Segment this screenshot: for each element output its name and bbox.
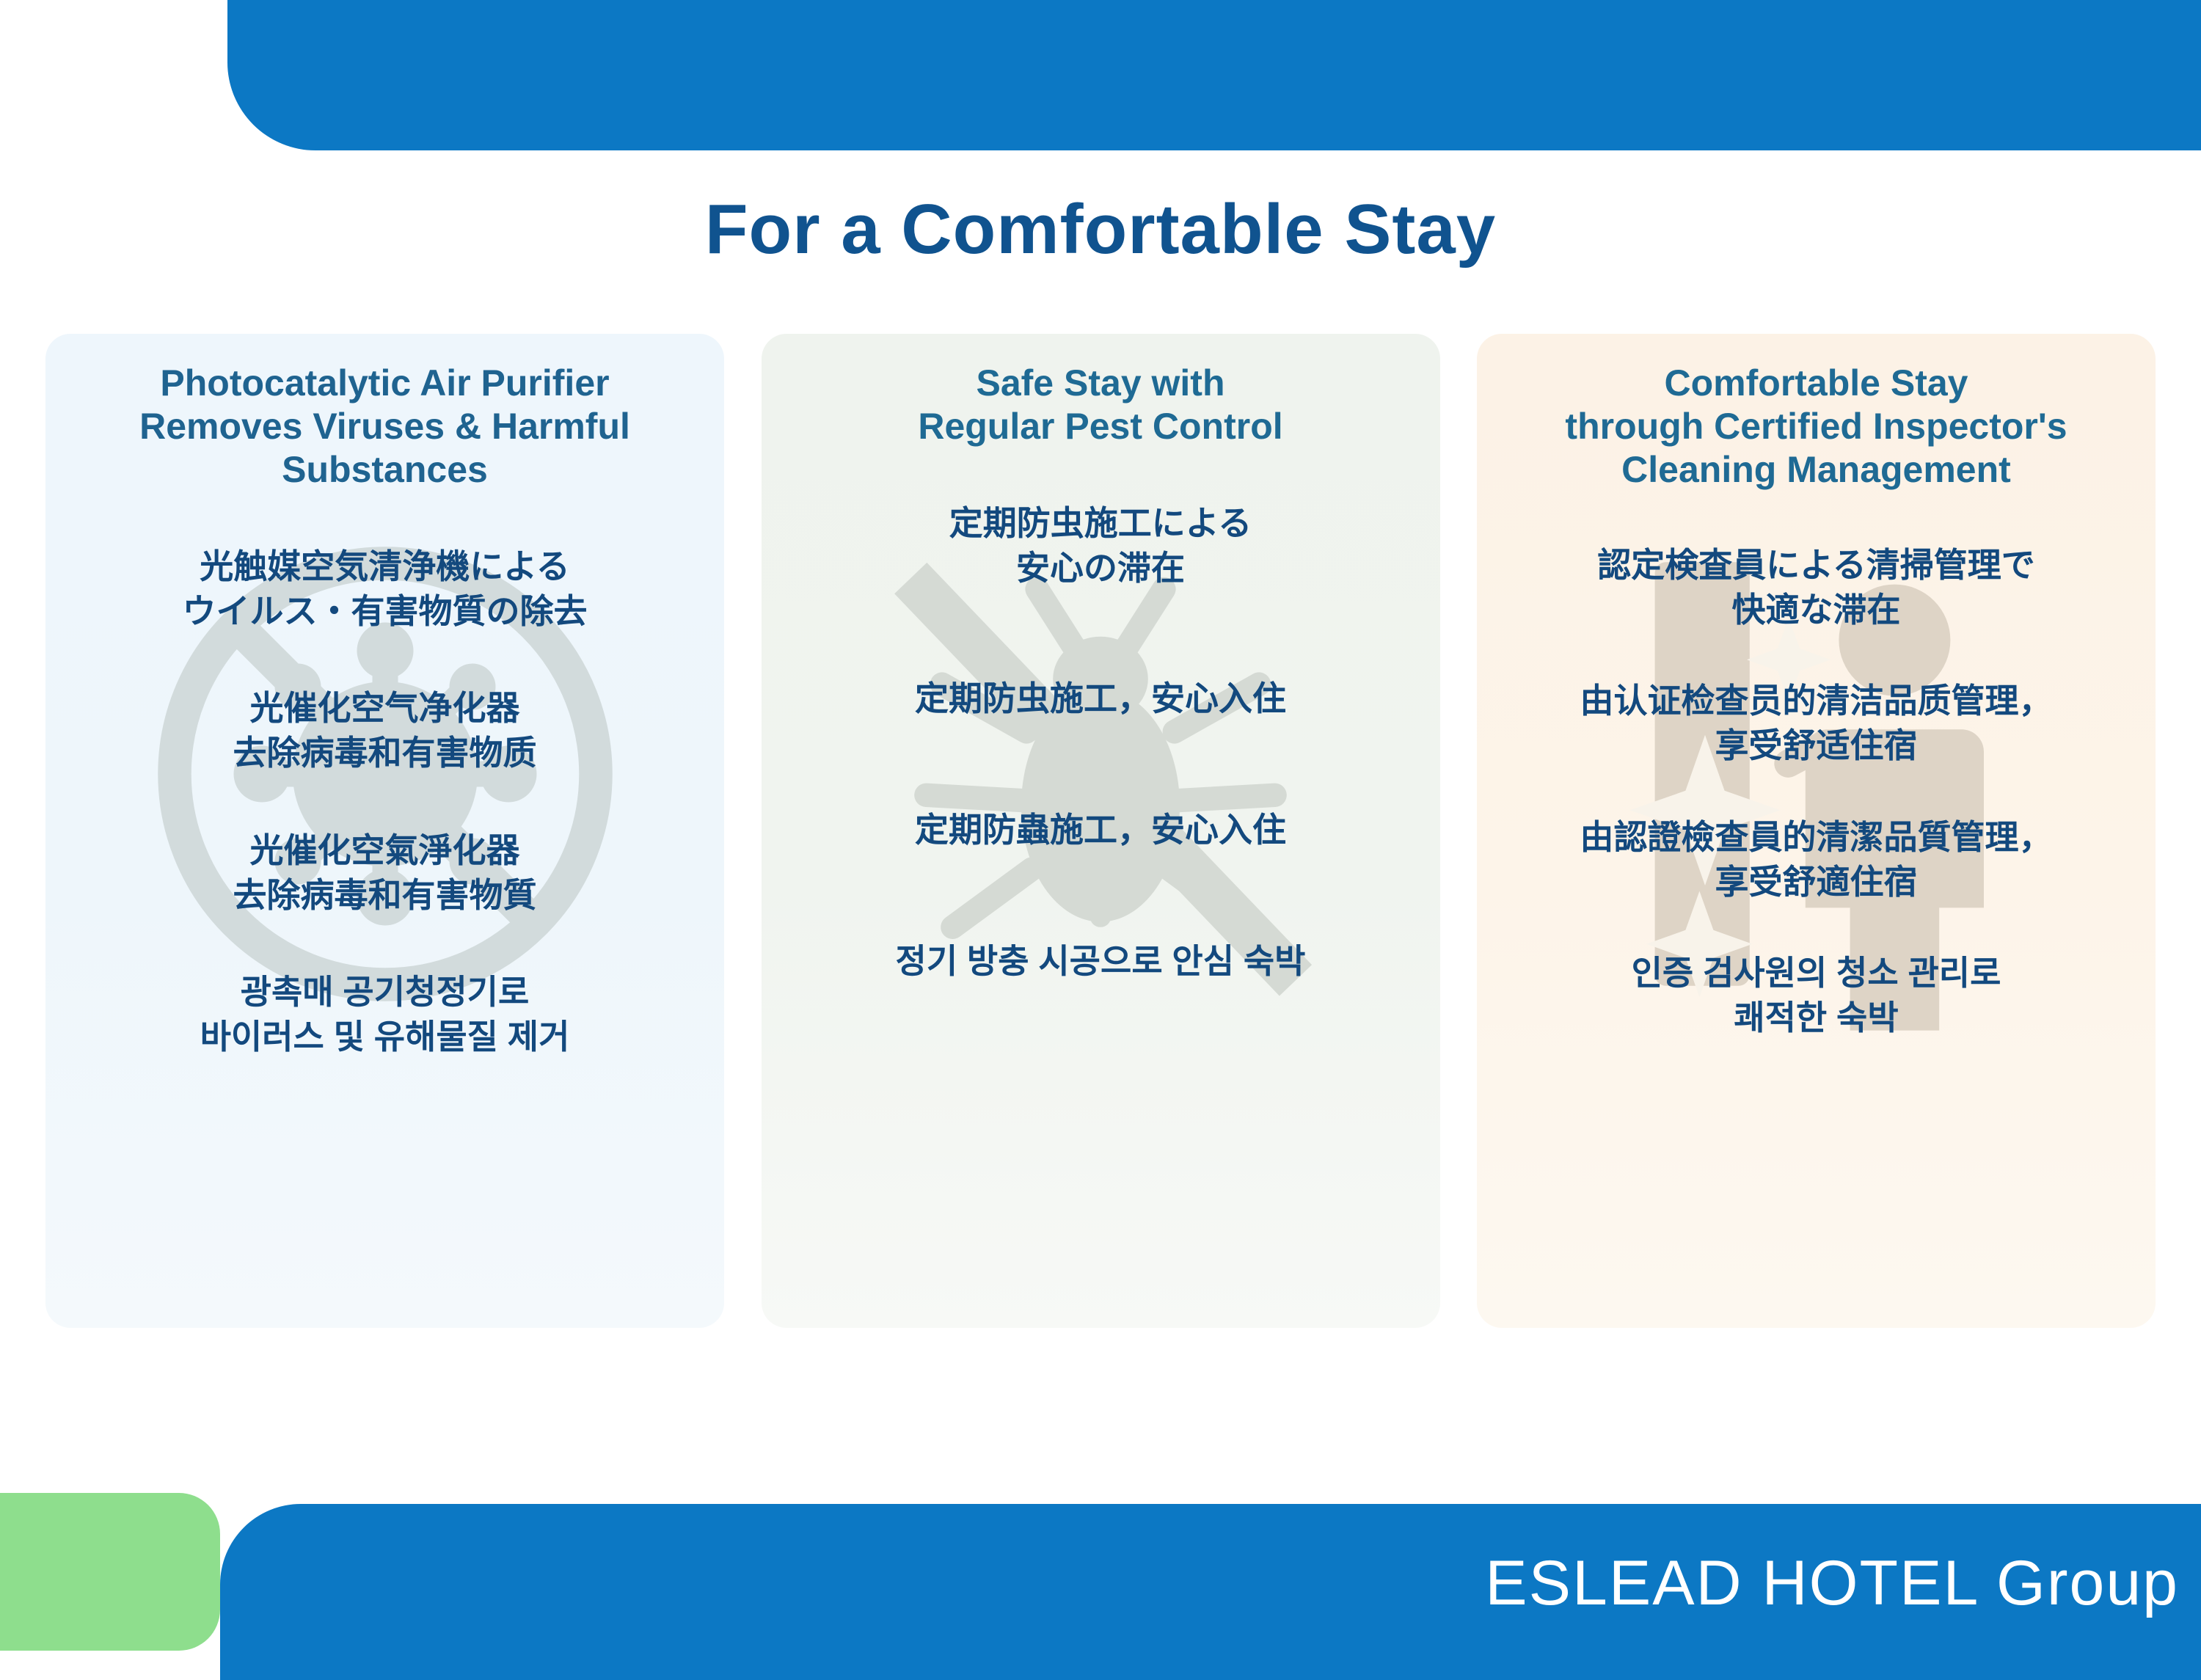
top-banner [227, 0, 2201, 150]
card-body-zh-cn: 光催化空气净化器 去除病毒和有害物质 [65, 686, 705, 775]
card-body-ja: 定期防虫施工による 安心の滞在 [781, 501, 1421, 590]
feature-card-air-purifier[interactable]: Photocatalytic Air Purifier Removes Viru… [45, 334, 724, 1328]
card-body-zh-tw: 定期防蟲施工，安心入住 [781, 808, 1421, 852]
footer-accent-shape [0, 1493, 220, 1651]
card-heading: Photocatalytic Air Purifier Removes Viru… [65, 362, 705, 492]
card-body-zh-cn: 由认证检查员的清洁品质管理， 享受舒适住宿 [1496, 679, 2136, 767]
card-body: 定期防虫施工による 安心の滞在 定期防虫施工，安心入住 定期防蟲施工，安心入住 … [781, 501, 1421, 984]
card-heading: Safe Stay with Regular Pest Control [781, 362, 1421, 448]
brand-name: ESLEAD HOTEL Group [1485, 1547, 2179, 1620]
feature-card-cleaning-management[interactable]: Comfortable Stay through Certified Inspe… [1477, 334, 2156, 1328]
card-body-ja: 認定検査員による清掃管理で 快適な滞在 [1496, 543, 2136, 632]
card-body-ko: 정기 방충 시공으로 안심 숙박 [781, 939, 1421, 984]
page-title: For a Comfortable Stay [0, 189, 2201, 270]
card-heading: Comfortable Stay through Certified Inspe… [1496, 362, 2136, 492]
card-body-ja: 光触媒空気清浄機による ウイルス・有害物質の除去 [65, 544, 705, 633]
card-body-zh-cn: 定期防虫施工，安心入住 [781, 676, 1421, 721]
card-body-ko: 인증 검사원의 청소 관리로 쾌적한 숙박 [1496, 951, 2136, 1040]
feature-cards-row: Photocatalytic Air Purifier Removes Viru… [45, 334, 2156, 1328]
card-body-ko: 광촉매 공기청정기로 바이러스 및 유해물질 제거 [65, 970, 705, 1059]
card-body-zh-tw: 由認證檢查員的清潔品質管理， 享受舒適住宿 [1496, 815, 2136, 904]
feature-card-pest-control[interactable]: Safe Stay with Regular Pest Control 定期防虫… [762, 334, 1440, 1328]
card-body-zh-tw: 光催化空氣淨化器 去除病毒和有害物質 [65, 828, 705, 917]
card-body: 光触媒空気清浄機による ウイルス・有害物質の除去 光催化空气净化器 去除病毒和有… [65, 544, 705, 1059]
card-body: 認定検査員による清掃管理で 快適な滞在 由认证检查员的清洁品质管理， 享受舒适住… [1496, 543, 2136, 1040]
